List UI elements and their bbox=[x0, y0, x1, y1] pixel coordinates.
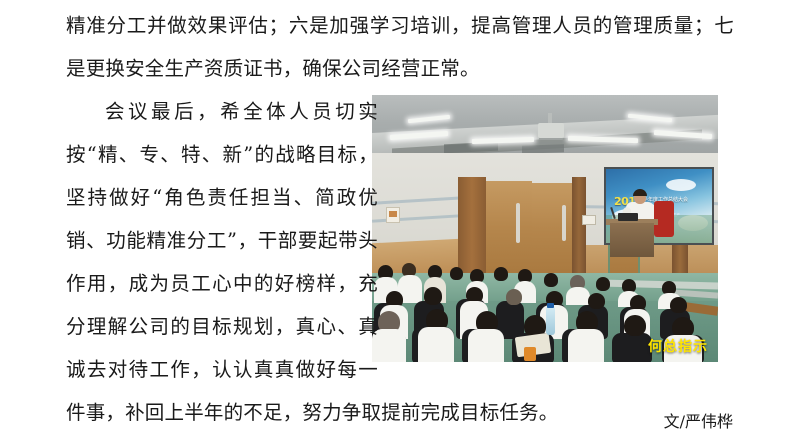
document-page: 2018 上半年度工作总结大会 安全生产 bbox=[0, 0, 800, 443]
paragraph-2: 会议最后，希全体人员切实按“精、专、特、新”的战略目标，坚持做好“角色责任担当、… bbox=[66, 90, 734, 434]
photo-wrap-spacer bbox=[388, 90, 734, 357]
paragraph-1: 精准分工并做效果评估；六是加强学习培训，提高管理人员的管理质量；七是更换安全生产… bbox=[66, 4, 734, 90]
body-text: 精准分工并做效果评估；六是加强学习培训，提高管理人员的管理质量；七是更换安全生产… bbox=[66, 4, 734, 434]
byline: 文/严伟桦 bbox=[664, 408, 733, 432]
